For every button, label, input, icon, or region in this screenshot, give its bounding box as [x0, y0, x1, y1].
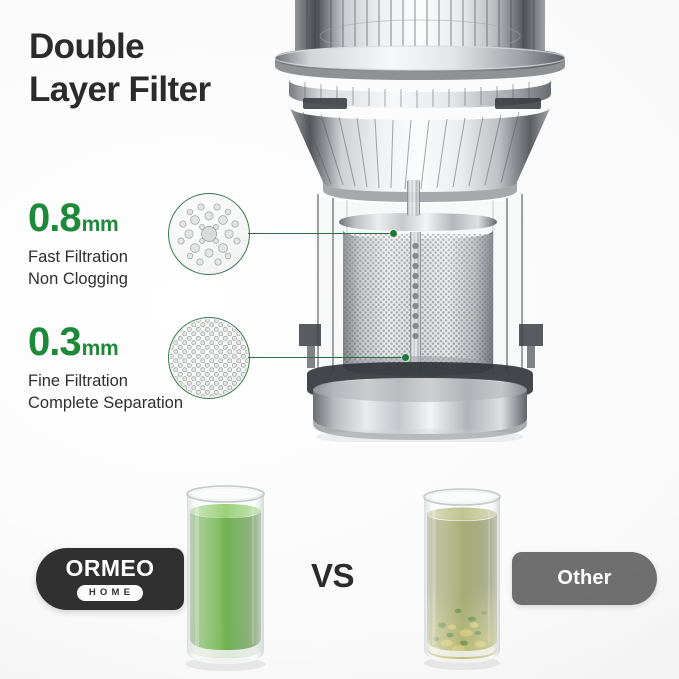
other-badge-label: Other	[557, 567, 611, 590]
versus-label: VS	[311, 557, 354, 595]
glass-of-smooth-green-juice	[176, 478, 275, 674]
juicer-filter-assembly-image	[255, 0, 585, 442]
other-badge: Other	[512, 552, 657, 605]
spec-desc-coarse: Fast Filtration Non Clogging	[28, 247, 128, 291]
glass-of-pulpy-murky-juice	[414, 483, 510, 673]
callout-dot-fine	[402, 354, 409, 361]
spec-desc-coarse-line-1: Fast Filtration	[28, 247, 128, 269]
brand-name: ORMEO	[66, 557, 155, 580]
spec-desc-coarse-line-2: Non Clogging	[28, 269, 128, 291]
spec-desc-fine: Fine Filtration Complete Separation	[28, 371, 183, 415]
spec-value-fine: 0.3mm	[28, 322, 183, 362]
spec-number-fine: 0.3	[28, 322, 81, 362]
spec-block-fine: 0.3mm Fine Filtration Complete Separatio…	[28, 322, 183, 415]
spec-desc-fine-line-2: Complete Separation	[28, 393, 183, 415]
spec-number-coarse: 0.8	[28, 198, 81, 238]
callout-line-coarse	[248, 233, 393, 234]
coarse-mesh-icon	[168, 193, 250, 275]
spec-block-coarse: 0.8mm Fast Filtration Non Clogging	[28, 198, 128, 291]
callout-dot-coarse	[390, 230, 397, 237]
brand-badge-ormeo: ORMEO HOME	[36, 548, 184, 610]
infographic-canvas: Double Layer Filter	[0, 0, 679, 679]
spec-value-coarse: 0.8mm	[28, 198, 128, 238]
spec-desc-fine-line-1: Fine Filtration	[28, 371, 183, 393]
page-title-line-1: Double	[29, 27, 144, 66]
fine-mesh-icon	[168, 317, 250, 399]
spec-unit-fine: mm	[82, 338, 119, 359]
spec-unit-coarse: mm	[82, 214, 119, 235]
callout-line-fine	[248, 357, 405, 358]
brand-subtitle: HOME	[77, 585, 143, 601]
